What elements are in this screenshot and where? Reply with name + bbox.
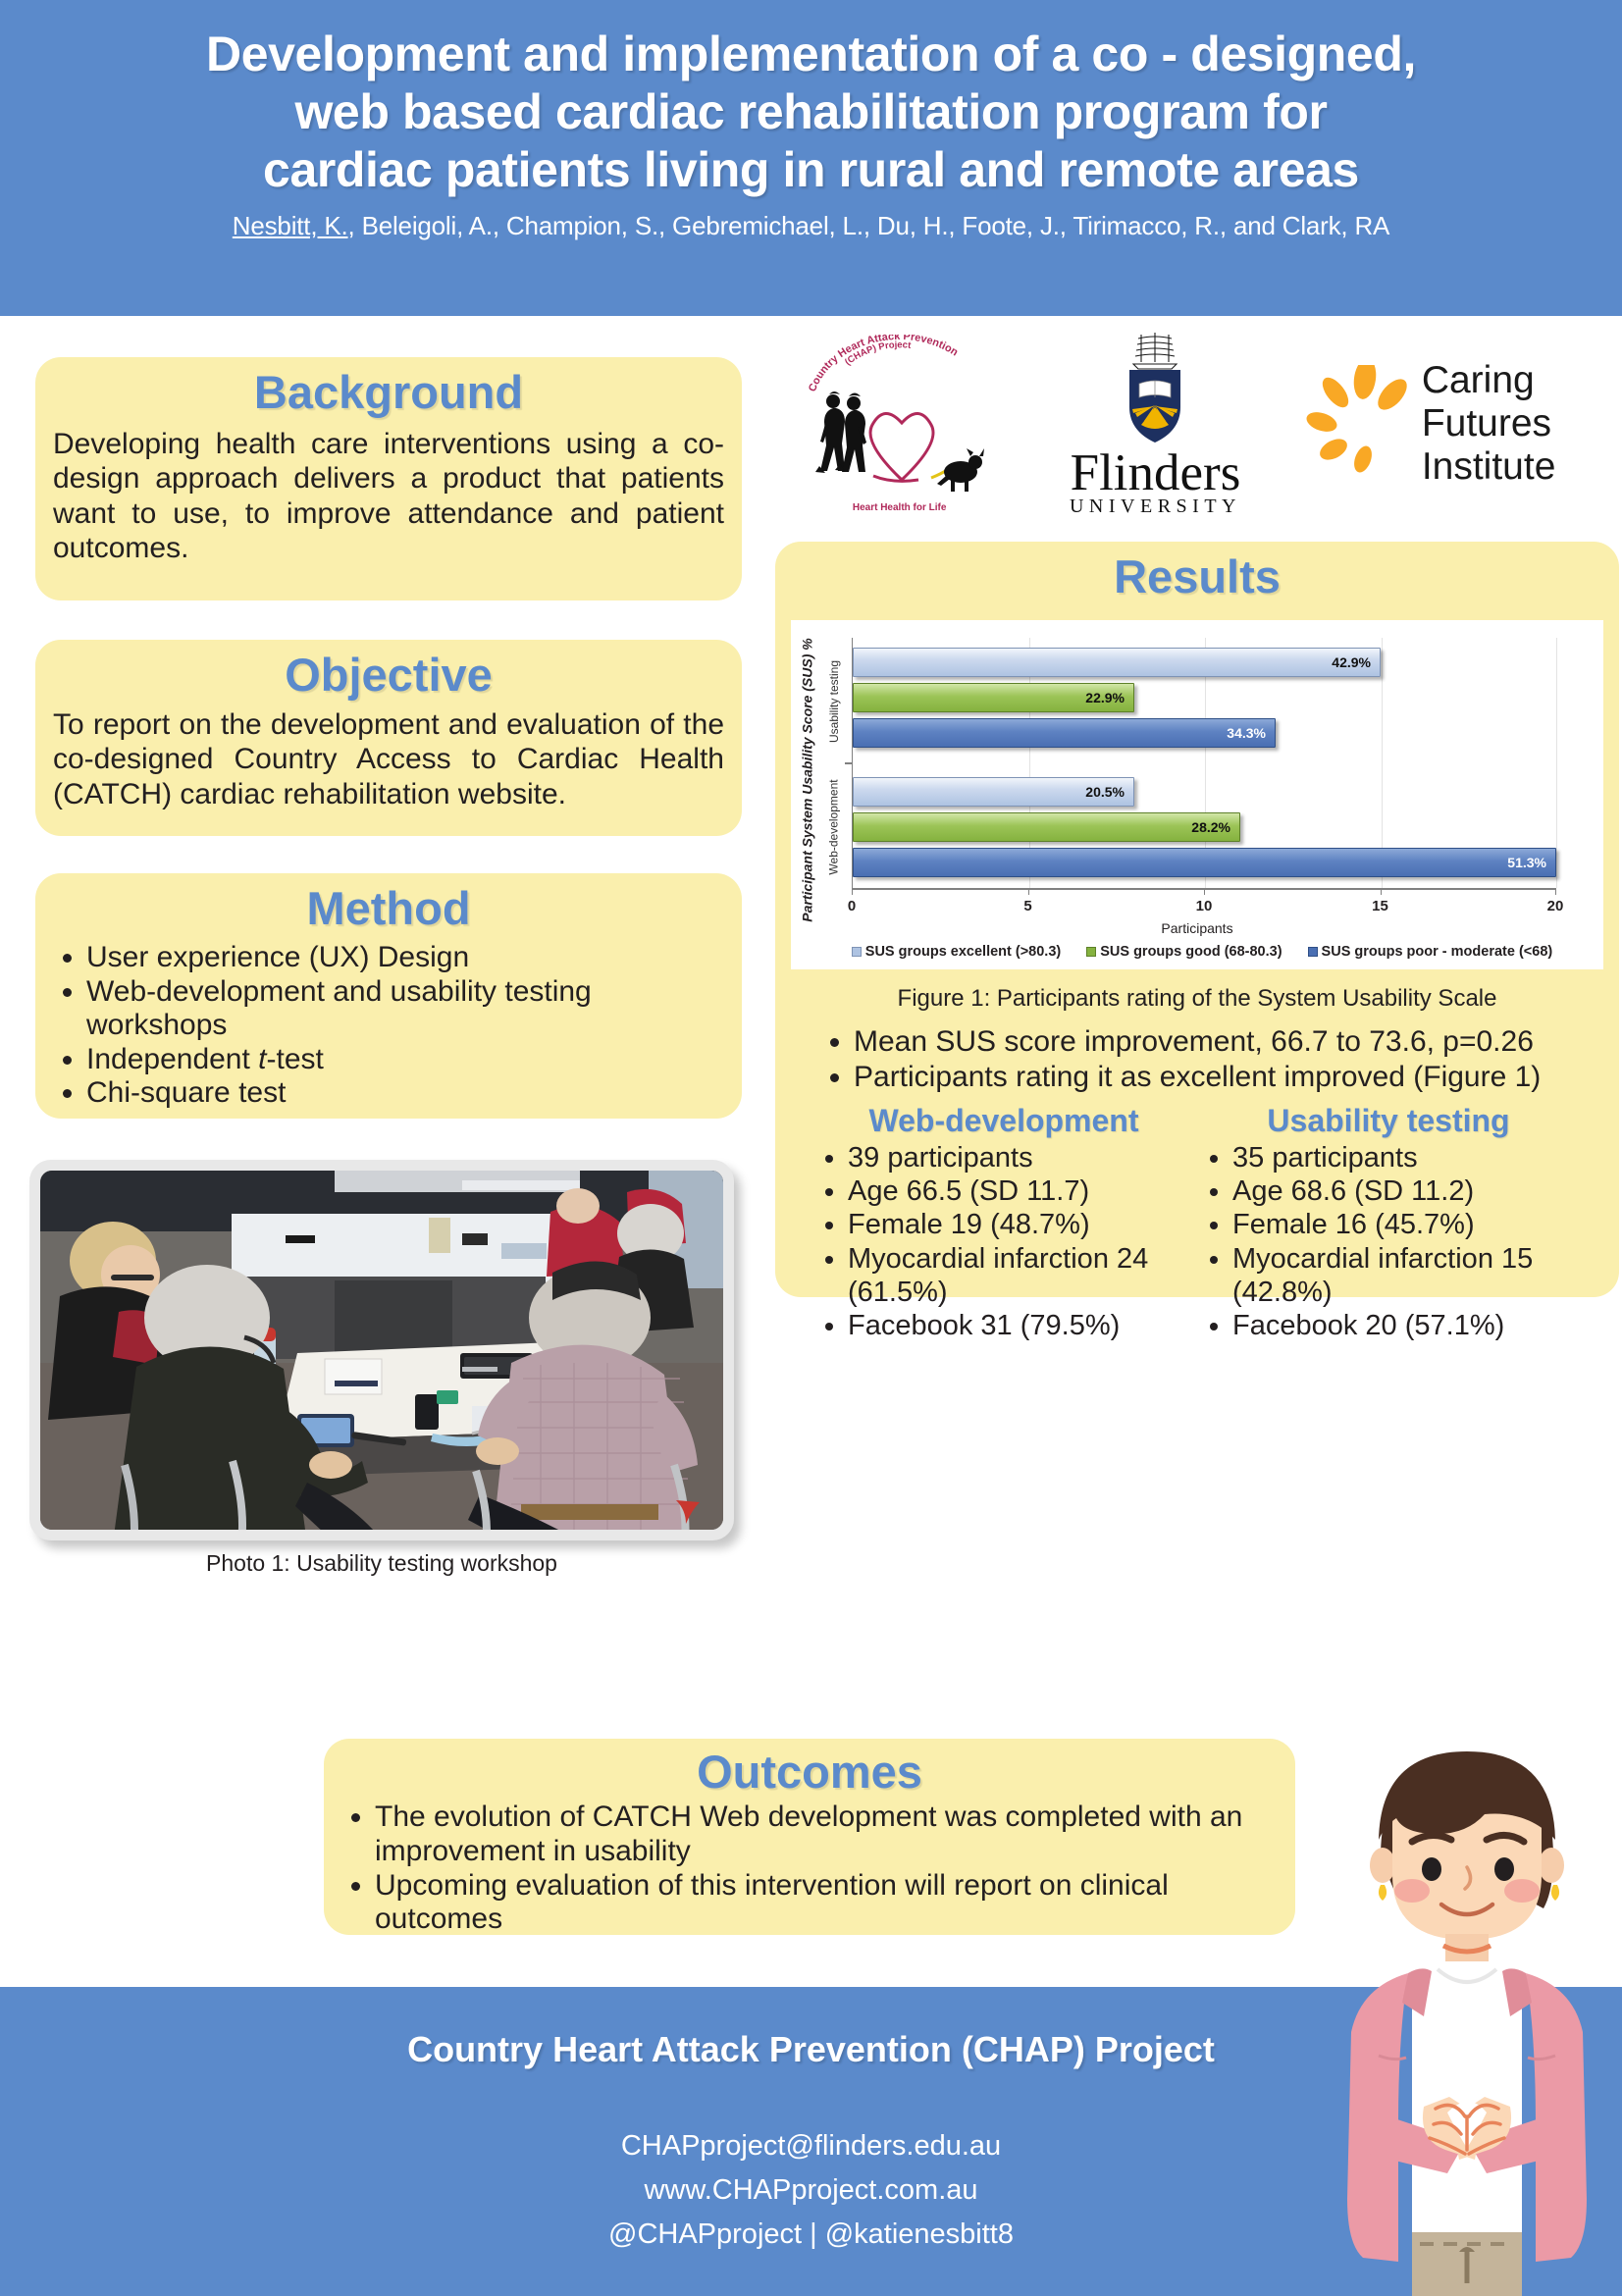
bar-usability-poor-moderate: 34.3% [853,718,1276,748]
list-item: Chi-square test [86,1076,724,1111]
legend-item-good: SUS groups good (68-80.3) [1086,944,1282,960]
chart-category-label-usability-testing: Usability testing [822,644,846,759]
legend-item-excellent: SUS groups excellent (>80.3) [852,944,1061,960]
chart-x-axis-title: Participants [791,920,1603,936]
results-heading: Results [775,549,1619,603]
cfi-line-1: Caring [1422,359,1556,402]
sus-bar-chart: Participant System Usability Score (SUS)… [791,620,1603,969]
photo-caption: Photo 1: Usability testing workshop [29,1550,734,1577]
xtick-0 [852,888,853,895]
bar-value-label: 51.3% [1507,855,1546,870]
chap-tagline: Heart Health for Life [794,502,1005,513]
list-item: 39 participants [848,1141,1185,1174]
list-item: Facebook 20 (57.1%) [1232,1309,1570,1342]
legend-swatch-icon [1308,947,1318,957]
column-heading: Web-development [822,1103,1185,1139]
background-text: Developing health care interventions usi… [53,427,724,566]
outcomes-list: The evolution of CATCH Web development w… [375,1800,1274,1937]
chart-category-label-web-development: Web-development [822,767,846,887]
legend-label: SUS groups excellent (>80.3) [865,944,1061,960]
list-item: Female 19 (48.7%) [848,1208,1185,1241]
objective-heading: Objective [35,648,742,702]
list-item: Myocardial infarction 24 (61.5%) [848,1242,1185,1309]
xtick-10 [1204,888,1205,895]
method-heading: Method [35,881,742,935]
list-item: Participants rating it as excellent impr… [854,1060,1611,1095]
results-bullet-list: Mean SUS score improvement, 66.7 to 73.6… [826,1024,1611,1095]
background-card: Background Developing health care interv… [35,357,742,600]
bar-value-label: 22.9% [1085,690,1125,705]
bar-webdev-good: 28.2% [853,812,1240,842]
flinders-university-logo: Flinders UNIVERSITY [1042,329,1268,520]
bar-value-label: 34.3% [1227,725,1266,741]
list-item: Upcoming evaluation of this intervention… [375,1869,1274,1938]
xtick-15 [1381,888,1382,895]
heart-hands-girl-illustration [1310,1742,1622,2296]
list-item: Age 68.6 (SD 11.2) [1232,1174,1570,1208]
list-item: User experience (UX) Design [86,941,724,975]
first-author: Nesbitt, K. [233,211,348,240]
bar-usability-excellent: 42.9% [853,648,1381,677]
bar-value-label: 20.5% [1085,784,1125,800]
chart-container: Participant System Usability Score (SUS)… [791,620,1603,969]
workshop-photo [40,1171,723,1530]
page-title: Development and implementation of a co -… [125,26,1498,199]
poster-header: Development and implementation of a co -… [0,0,1622,316]
gridline-20 [1556,638,1557,888]
chart-plot-area: 42.9% 22.9% 34.3% 20.5% 28.2% [852,638,1556,888]
outcomes-heading: Outcomes [324,1745,1295,1799]
outcomes-card: Outcomes The evolution of CATCH Web deve… [324,1739,1295,1935]
bar-value-label: 42.9% [1332,654,1371,670]
flinders-subtitle: UNIVERSITY [1070,496,1241,518]
flinders-wordmark: Flinders [1071,448,1241,497]
cfi-wordmark: Caring Futures Institute [1422,359,1556,488]
cfi-line-3: Institute [1422,445,1556,489]
results-column-web-development: Web-development 39 participants Age 66.5… [822,1103,1185,1342]
other-authors: , Beleigoli, A., Champion, S., Gebremich… [348,211,1390,240]
xtick-label-15: 15 [1372,898,1388,914]
list-item: Independent t-test [86,1043,724,1077]
list-item: Myocardial infarction 15 (42.8%) [1232,1242,1570,1309]
xtick-20 [1555,888,1556,895]
legend-label: SUS groups good (68-80.3) [1100,944,1282,960]
photo-frame [29,1160,734,1540]
flinders-shield-icon [1106,329,1204,446]
title-line-1: Development and implementation of a co -… [125,26,1498,83]
heart-leash-icon [841,393,988,501]
list-item: Facebook 31 (79.5%) [848,1309,1185,1342]
column-heading: Usability testing [1207,1103,1570,1139]
title-line-3: cardiac patients living in rural and rem… [125,141,1498,199]
list-item: The evolution of CATCH Web development w… [375,1800,1274,1869]
objective-text: To report on the development and evaluat… [53,707,724,811]
list-item: Mean SUS score improvement, 66.7 to 73.6… [854,1024,1611,1060]
title-line-2: web based cardiac rehabilitation program… [125,83,1498,141]
list-item: Age 66.5 (SD 11.7) [848,1174,1185,1208]
poster-body: Background Developing health care interv… [0,316,1622,1987]
cfi-sunburst-icon [1306,365,1414,483]
caring-futures-institute-logo: Caring Futures Institute [1306,336,1600,512]
legend-item-poor-moderate: SUS groups poor - moderate (<68) [1308,944,1553,960]
bar-value-label: 28.2% [1191,819,1230,835]
results-card: Results Participant System Usability Sco… [775,542,1619,1297]
bar-webdev-excellent: 20.5% [853,777,1134,807]
method-card: Method User experience (UX) Design Web-d… [35,873,742,1119]
chart-y-axis-label: Participant System Usability Score (SUS)… [795,657,820,903]
method-list: User experience (UX) Design Web-developm… [86,941,724,1111]
bar-webdev-poor-moderate: 51.3% [853,848,1556,877]
photo-block: Photo 1: Usability testing workshop [29,1160,756,1562]
cfi-line-2: Futures [1422,402,1556,445]
objective-card: Objective To report on the development a… [35,640,742,836]
legend-swatch-icon [1086,947,1096,957]
category-separator-tick [845,762,853,764]
figure-caption: Figure 1: Participants rating of the Sys… [775,985,1619,1013]
list-item: Web-development and usability testing wo… [86,975,724,1043]
xtick-5 [1028,888,1029,895]
xtick-label-20: 20 [1547,898,1564,914]
list-item: Female 16 (45.7%) [1232,1208,1570,1241]
chart-legend: SUS groups excellent (>80.3) SUS groups … [811,944,1594,960]
logo-strip: Country Heart Attack Prevention (CHAP) P… [775,326,1619,522]
xtick-label-5: 5 [1023,898,1031,914]
legend-label: SUS groups poor - moderate (<68) [1322,944,1553,960]
background-heading: Background [35,365,742,419]
chap-logo: Country Heart Attack Prevention (CHAP) P… [794,331,1005,517]
results-column-usability-testing: Usability testing 35 participants Age 68… [1207,1103,1570,1342]
legend-swatch-icon [852,947,862,957]
xtick-label-10: 10 [1196,898,1213,914]
bar-usability-good: 22.9% [853,683,1134,712]
author-list: Nesbitt, K., Beleigoli, A., Champion, S.… [233,211,1389,241]
xtick-label-0: 0 [848,898,856,914]
list-item: 35 participants [1232,1141,1570,1174]
